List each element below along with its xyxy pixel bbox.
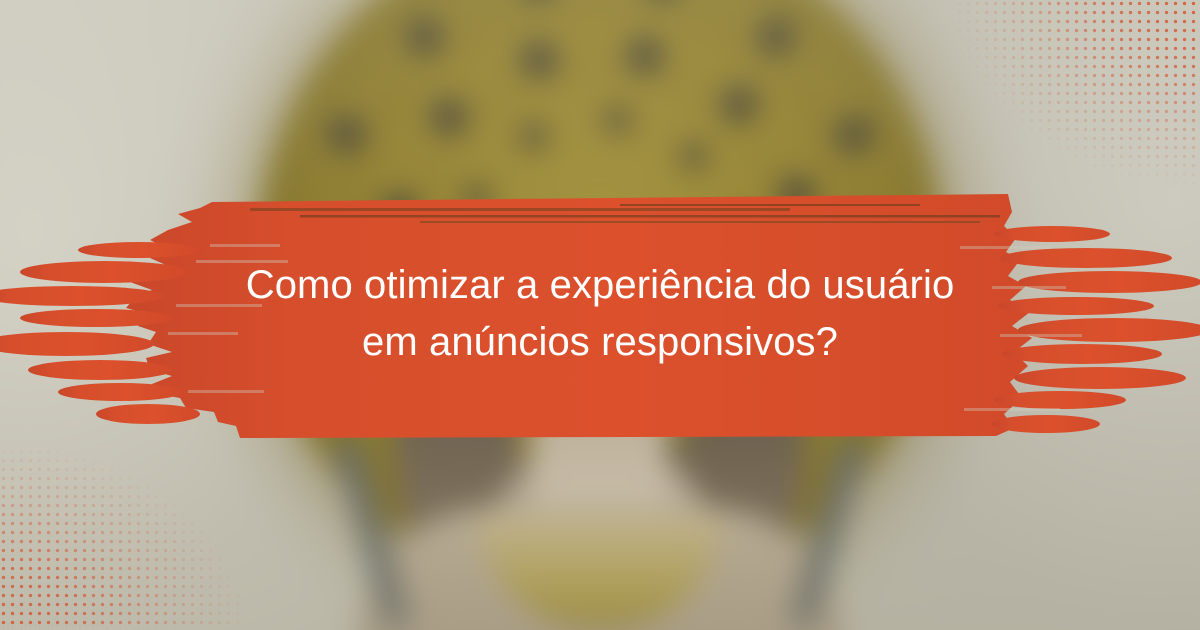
social-card: Como otimizar a experiência do usuário e… [0,0,1200,630]
headline-banner: Como otimizar a experiência do usuário e… [0,186,1200,442]
page-title: Como otimizar a experiência do usuário e… [220,257,980,371]
headline-container: Como otimizar a experiência do usuário e… [0,186,1200,442]
